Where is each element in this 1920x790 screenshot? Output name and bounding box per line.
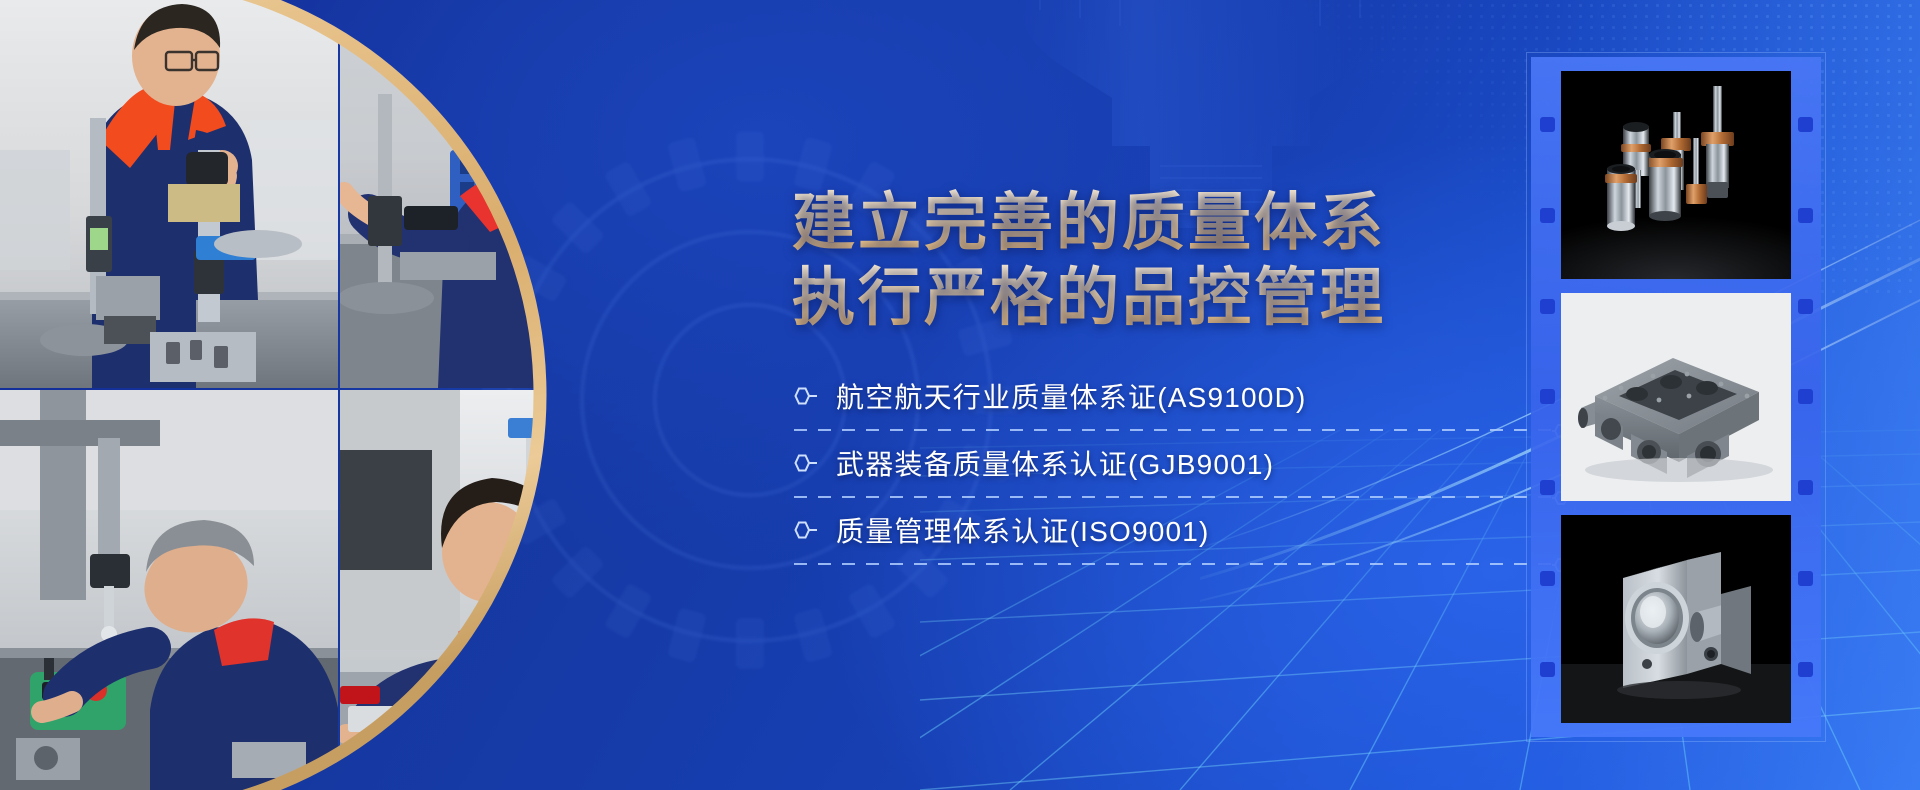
- perforation-hole: [1540, 208, 1555, 223]
- certification-label: 质量管理体系认证(ISO9001): [836, 510, 1210, 550]
- certification-item[interactable]: 武器装备质量体系认证(GJB9001): [792, 437, 1532, 504]
- certification-item[interactable]: 质量管理体系认证(ISO9001): [792, 504, 1532, 571]
- certification-label: 航空航天行业质量体系证(AS9100D): [836, 376, 1307, 416]
- headline-line-2: 执行严格的品控管理: [792, 261, 1532, 336]
- headline-line-1: 建立完善的质量体系: [792, 186, 1532, 261]
- collage-photo-inspector-with-height-gauge: [0, 0, 338, 388]
- photo-collage: 00 00: [0, 0, 700, 790]
- perforation-hole: [1798, 299, 1813, 314]
- dashed-divider: [794, 563, 1560, 565]
- perforation-hole: [1798, 208, 1813, 223]
- perforation-hole: [1540, 480, 1555, 495]
- hexagon-bullet-icon: [792, 453, 818, 473]
- perforation-hole: [1798, 117, 1813, 132]
- perforation-hole: [1798, 662, 1813, 677]
- perforation-hole: [1540, 389, 1555, 404]
- quality-system-banner: 00 00: [0, 0, 1920, 790]
- collage-photo-engineer-at-cmm-machine: [0, 390, 338, 790]
- perforation-hole: [1540, 571, 1555, 586]
- perforation-hole: [1798, 389, 1813, 404]
- product-filmstrip: [1531, 57, 1821, 737]
- product-frame-precision-shafts-and-collars[interactable]: [1561, 71, 1791, 279]
- banner-content: 建立完善的质量体系 执行严格的品控管理 航空航天行业质量体系证(AS9100D): [792, 186, 1532, 571]
- collage-photo-female-operator-at-bench: [340, 0, 702, 388]
- svg-text:00: 00: [598, 458, 614, 473]
- perforation-hole: [1540, 299, 1555, 314]
- headline: 建立完善的质量体系 执行严格的品控管理: [792, 186, 1532, 336]
- perforation-hole: [1540, 662, 1555, 677]
- hexagon-bullet-icon: [792, 520, 818, 540]
- hexagon-bullet-icon: [792, 386, 818, 406]
- certification-list: 航空航天行业质量体系证(AS9100D): [792, 370, 1532, 571]
- filmstrip-perforations-right: [1796, 57, 1814, 737]
- certification-label: 武器装备质量体系认证(GJB9001): [836, 443, 1274, 483]
- product-frame-machined-aluminum-housing[interactable]: [1561, 293, 1791, 501]
- filmstrip-perforations-left: [1538, 57, 1556, 737]
- perforation-hole: [1540, 117, 1555, 132]
- dashed-divider: [794, 496, 1560, 498]
- svg-text:00: 00: [640, 458, 656, 473]
- product-frame-bearing-block-assembly[interactable]: [1561, 515, 1791, 723]
- perforation-hole: [1798, 571, 1813, 586]
- collage-photo-operator-at-cnc-console: 00 00: [340, 390, 702, 790]
- perforation-hole: [1798, 480, 1813, 495]
- certification-item[interactable]: 航空航天行业质量体系证(AS9100D): [792, 370, 1532, 437]
- dashed-divider: [794, 429, 1560, 431]
